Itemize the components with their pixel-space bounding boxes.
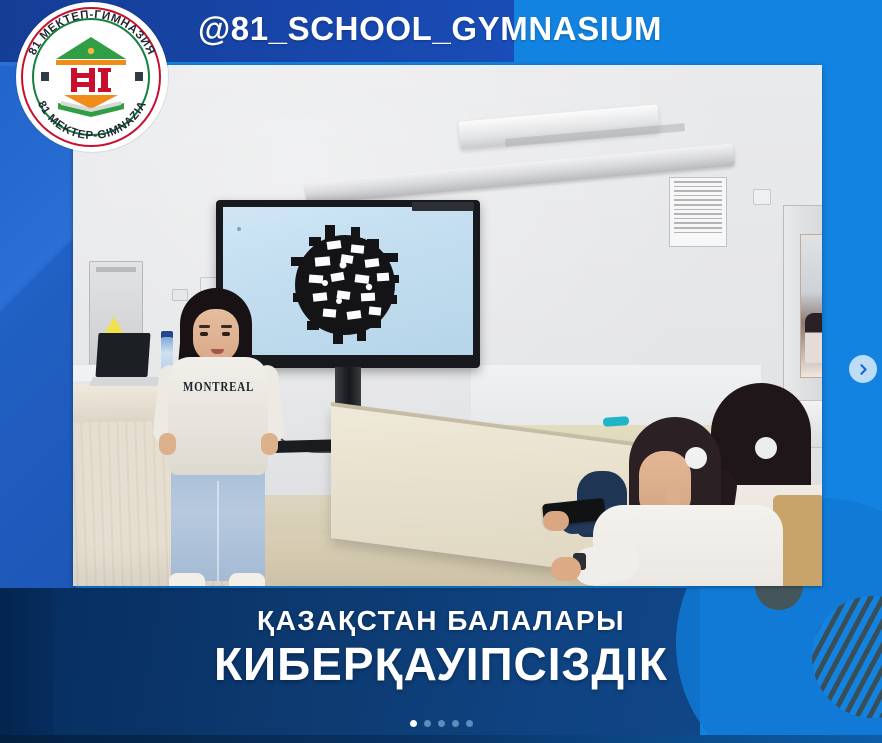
account-handle: @81_SCHOOL_GYMNASIUM (198, 10, 662, 48)
logo-emblem-icon (52, 35, 130, 119)
lesson-photo: CONTA LEAVES GREEN MONTREAL (73, 65, 822, 586)
teacher-shoe-left (169, 573, 205, 586)
chevron-right-icon (857, 363, 870, 376)
teacher-hand-right (261, 433, 278, 455)
teacher-face (193, 309, 239, 363)
school-logo: 81 МЕКТЕП-ГИМНАЗИЯ 81 MEKTEP-GIMNAZIA (12, 2, 176, 152)
teacher-shoe-right (229, 573, 265, 586)
carousel-dot-5[interactable] (466, 720, 473, 727)
teacher-shirt-text: MONTREAL (183, 380, 253, 395)
poster-figure (805, 313, 822, 363)
wall-document (669, 177, 727, 247)
teacher-hand-left (159, 433, 176, 455)
light-switch (753, 189, 771, 205)
teacher-shirt (168, 357, 268, 475)
laptop-screen (95, 333, 150, 377)
wall-socket (172, 289, 188, 301)
student-front-hair-tie (685, 447, 707, 469)
display-screen (223, 207, 473, 355)
interactive-display (216, 200, 480, 368)
slide-graphic (281, 223, 409, 347)
screen-corner-dot (237, 227, 241, 231)
cabinet-poster (800, 234, 822, 378)
student-left-hand (543, 511, 569, 531)
wall-cabinet (783, 205, 822, 407)
carousel-dot-2[interactable] (424, 720, 431, 727)
social-post-card: CONTA LEAVES GREEN MONTREAL (0, 0, 882, 743)
caption-line-1: ҚАЗАҚСТАН БАЛАЛАРЫ (0, 604, 882, 638)
next-slide-button[interactable] (849, 355, 877, 383)
caption-line-2: КИБЕРҚАУІПСІЗДІК (0, 638, 882, 690)
caption-block: ҚАЗАҚСТАН БАЛАЛАРЫ КИБЕРҚАУІПСІЗДІК (0, 604, 882, 690)
whiteboard-marker (603, 416, 630, 427)
laptop (97, 333, 155, 387)
panel-vent (96, 267, 136, 272)
carousel-dots (0, 720, 882, 727)
laptop-keyboard (89, 377, 161, 386)
carousel-dot-4[interactable] (452, 720, 459, 727)
carousel-dot-3[interactable] (438, 720, 445, 727)
student-front-ear (666, 485, 681, 505)
carousel-dot-1[interactable] (410, 720, 417, 727)
teacher-jeans (171, 465, 265, 581)
display-brand-badge (412, 202, 474, 211)
student-back-hair-tie (755, 437, 777, 459)
footer-line (0, 735, 882, 743)
student-front-hand (551, 557, 581, 581)
